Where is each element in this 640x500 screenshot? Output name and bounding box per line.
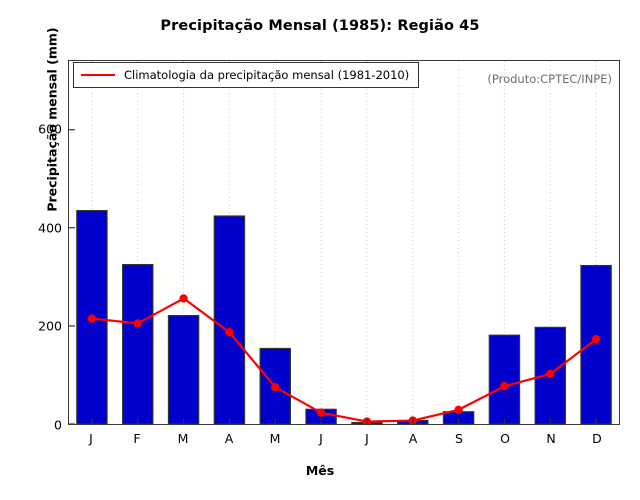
- x-tick-label: A: [393, 431, 433, 446]
- x-tick-label: A: [209, 431, 249, 446]
- x-tick-label: J: [71, 431, 111, 446]
- credit-annotation: (Produto:CPTEC/INPE): [487, 72, 612, 86]
- chart-figure: Precipitação Mensal (1985): Região 45 02…: [0, 0, 640, 500]
- x-tick-label: J: [301, 431, 341, 446]
- x-tick-label: D: [577, 431, 617, 446]
- x-tick-label: J: [347, 431, 387, 446]
- legend-entry-label: Climatologia da precipitação mensal (198…: [124, 68, 409, 82]
- x-tick-label: N: [531, 431, 571, 446]
- x-tick-label: S: [439, 431, 479, 446]
- x-axis-title: Mês: [0, 463, 640, 478]
- legend-line-swatch: [81, 74, 115, 76]
- x-tick-label: M: [255, 431, 295, 446]
- x-tick-label: M: [163, 431, 203, 446]
- chart-legend: Climatologia da precipitação mensal (198…: [73, 62, 419, 88]
- x-tick-label: F: [117, 431, 157, 446]
- y-axis-title: Precipitação mensal (mm): [45, 0, 60, 250]
- x-tick-label: O: [485, 431, 525, 446]
